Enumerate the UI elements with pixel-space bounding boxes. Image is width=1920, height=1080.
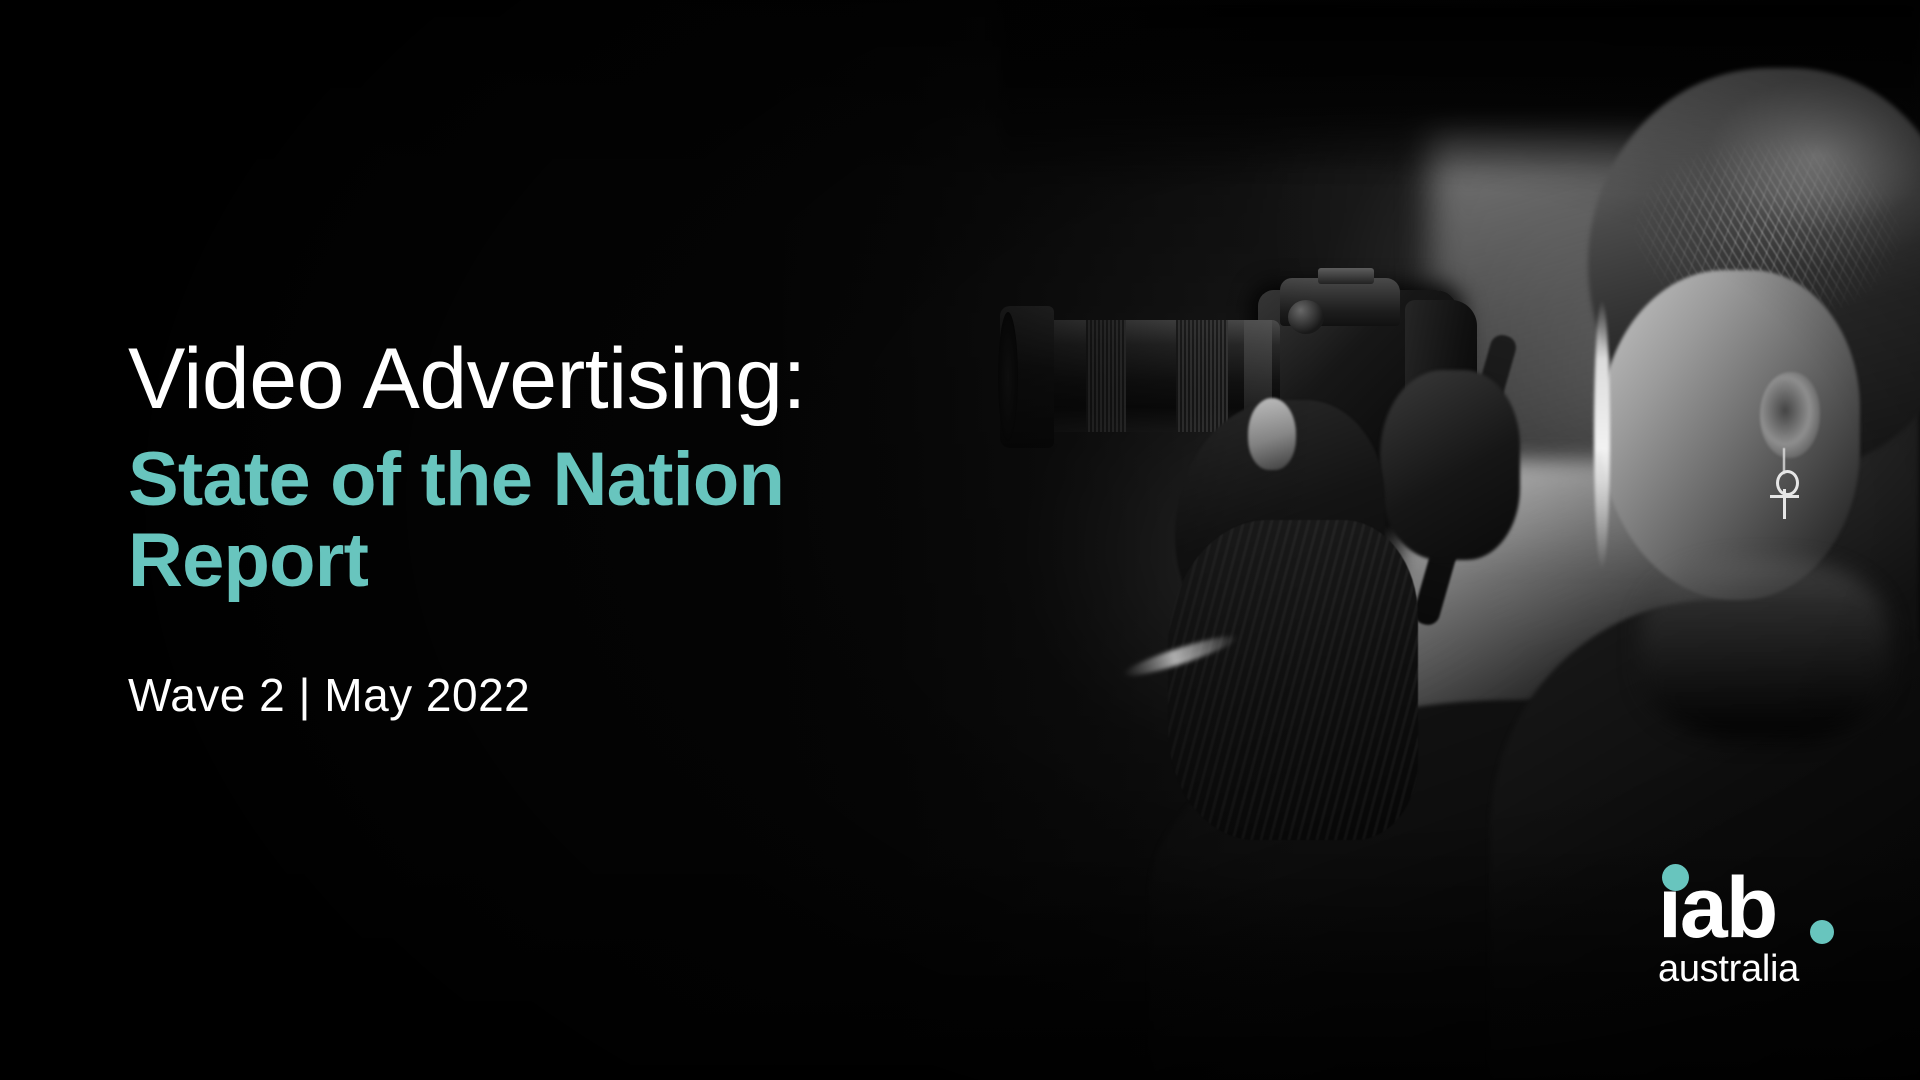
- logo-teal-period-icon: [1810, 920, 1834, 944]
- ankh-earring-stem-icon: [1783, 489, 1786, 519]
- logo-wordmark-row: iab: [1658, 870, 1848, 946]
- logo-teal-dot-icon: [1662, 864, 1689, 891]
- camera-lens-zoom-ring: [1086, 320, 1126, 432]
- title-slide: Video Advertising: State of the Nation R…: [0, 0, 1920, 1080]
- photo-subject-ear: [1760, 372, 1820, 458]
- camera-mode-dial: [1288, 300, 1324, 334]
- camera-lens-focus-ring: [1176, 320, 1228, 432]
- photo-subject-thumb: [1248, 398, 1296, 470]
- page-title-primary: Video Advertising:: [128, 336, 1028, 422]
- subtitle-wave-date: Wave 2 | May 2022: [128, 668, 1028, 722]
- photo-subject-neck-shadow: [1640, 560, 1890, 740]
- page-title-secondary-line-2: Report: [128, 521, 1028, 600]
- title-text-block: Video Advertising: State of the Nation R…: [128, 336, 1028, 722]
- ankh-earring-crossbar-icon: [1770, 495, 1799, 498]
- page-title-secondary-line-1: State of the Nation: [128, 440, 1028, 519]
- camera-hotshoe: [1318, 268, 1374, 284]
- photo-subject-right-hand: [1380, 370, 1520, 560]
- photo-subject-profile-highlight: [1594, 300, 1610, 570]
- ankh-earring-loop-icon: [1776, 470, 1799, 496]
- photo-subject-knit-glove: [1168, 520, 1418, 840]
- iab-australia-logo: iab australia: [1658, 870, 1848, 988]
